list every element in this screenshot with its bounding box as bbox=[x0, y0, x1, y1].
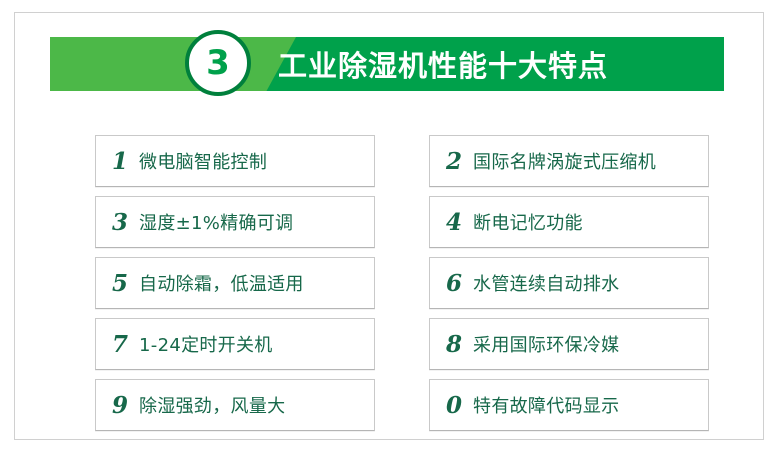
feature-label: 自动除霜，低温适用 bbox=[139, 270, 304, 296]
feature-label: 1-24定时开关机 bbox=[139, 331, 273, 357]
feature-card-2: 2 国际名牌涡旋式压缩机 bbox=[429, 135, 709, 187]
feature-number: 7 bbox=[112, 333, 128, 356]
feature-number: 4 bbox=[446, 211, 462, 234]
feature-label: 国际名牌涡旋式压缩机 bbox=[473, 148, 656, 174]
header-banner: 3 工业除湿机性能十大特点 bbox=[50, 37, 724, 91]
feature-label: 湿度±1%精确可调 bbox=[139, 209, 293, 235]
feature-card-9: 9 除湿强劲，风量大 bbox=[95, 379, 375, 431]
feature-number: 2 bbox=[446, 150, 462, 173]
feature-label: 特有故障代码显示 bbox=[473, 392, 619, 418]
feature-number: 3 bbox=[112, 211, 128, 234]
feature-label: 除湿强劲，风量大 bbox=[139, 392, 285, 418]
section-number-badge: 3 bbox=[185, 30, 251, 96]
feature-card-4: 4 断电记忆功能 bbox=[429, 196, 709, 248]
feature-card-1: 1 微电脑智能控制 bbox=[95, 135, 375, 187]
section-number-text: 3 bbox=[206, 46, 230, 80]
feature-card-5: 5 自动除霜，低温适用 bbox=[95, 257, 375, 309]
feature-card-10: 0 特有故障代码显示 bbox=[429, 379, 709, 431]
feature-number: 9 bbox=[112, 394, 128, 417]
feature-number: 8 bbox=[446, 333, 462, 356]
feature-label: 断电记忆功能 bbox=[473, 209, 583, 235]
feature-card-7: 7 1-24定时开关机 bbox=[95, 318, 375, 370]
page-container: 3 工业除湿机性能十大特点 1 微电脑智能控制 2 国际名牌涡旋式压缩机 3 湿… bbox=[14, 12, 764, 440]
banner-accent-shape bbox=[50, 37, 296, 91]
feature-label: 采用国际环保冷媒 bbox=[473, 331, 619, 357]
feature-card-6: 6 水管连续自动排水 bbox=[429, 257, 709, 309]
feature-number: 0 bbox=[446, 394, 462, 417]
feature-number: 6 bbox=[446, 272, 462, 295]
feature-number: 1 bbox=[112, 150, 128, 173]
page-title: 工业除湿机性能十大特点 bbox=[278, 37, 608, 91]
feature-card-8: 8 采用国际环保冷媒 bbox=[429, 318, 709, 370]
feature-label: 水管连续自动排水 bbox=[473, 270, 619, 296]
feature-label: 微电脑智能控制 bbox=[139, 148, 267, 174]
feature-number: 5 bbox=[112, 272, 128, 295]
feature-card-3: 3 湿度±1%精确可调 bbox=[95, 196, 375, 248]
feature-list: 1 微电脑智能控制 2 国际名牌涡旋式压缩机 3 湿度±1%精确可调 4 断电记… bbox=[95, 135, 709, 431]
